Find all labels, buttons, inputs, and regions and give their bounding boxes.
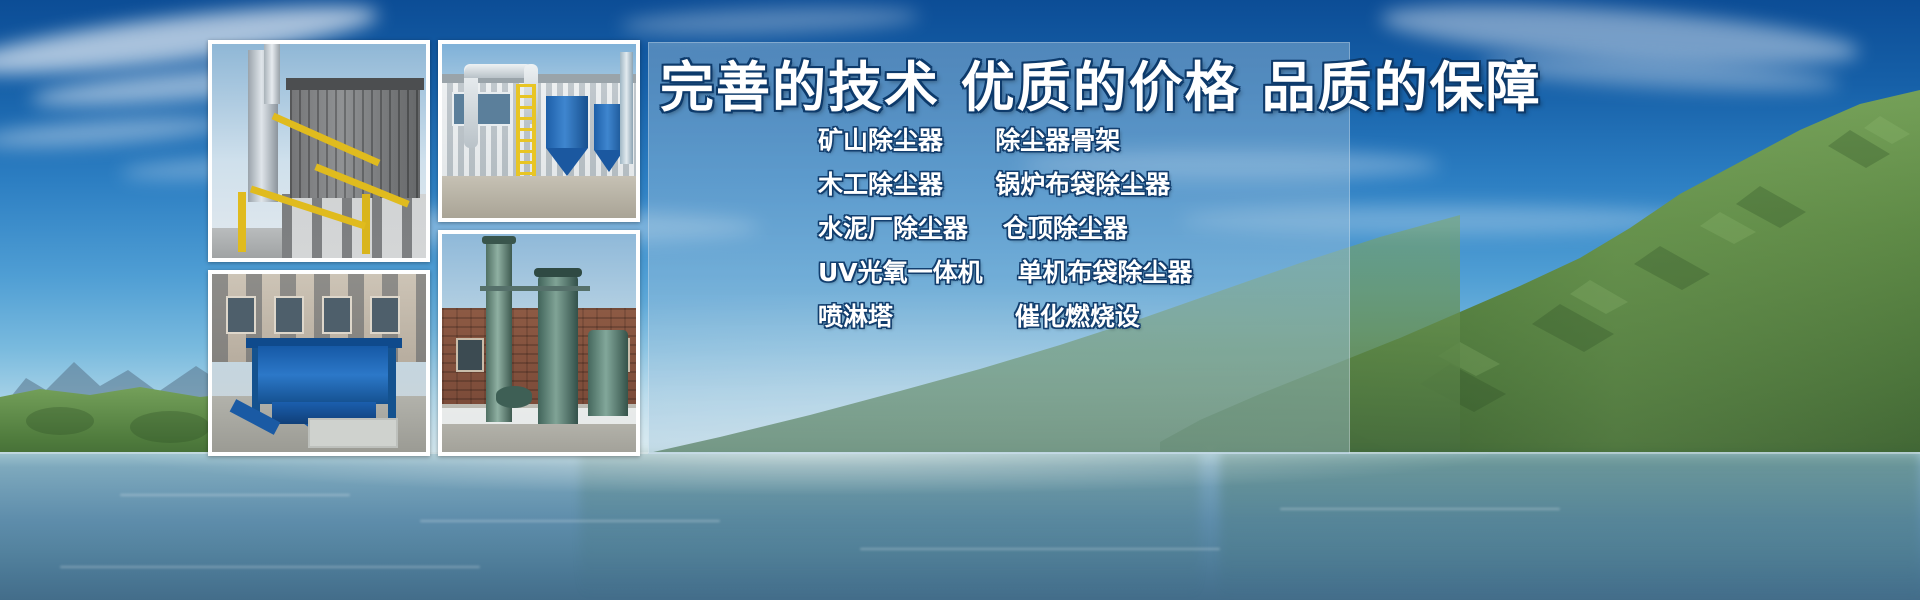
photo-mine-dust-collector[interactable]: [208, 40, 430, 262]
product-line: 喷淋塔 催化燃烧设: [818, 304, 1338, 329]
water-ripple: [860, 548, 1220, 550]
photo-collage: [208, 40, 640, 456]
page-title: 完善的技术 优质的价格 品质的保障: [660, 58, 1350, 117]
product-list: 矿山除尘器 除尘器骨架 木工除尘器 锅炉布袋除尘器 水泥厂除尘器 仓顶除尘器 U…: [818, 128, 1338, 348]
photo-workshop-hopper-collector[interactable]: [438, 40, 640, 222]
water-ripple: [1280, 508, 1560, 510]
product-line: 木工除尘器 锅炉布袋除尘器: [818, 172, 1338, 197]
product-line: UV光氧一体机 单机布袋除尘器: [818, 260, 1338, 285]
product-line: 矿山除尘器 除尘器骨架: [818, 128, 1338, 153]
water-ripple: [120, 494, 350, 496]
promo-banner: 完善的技术 优质的价格 品质的保障 矿山除尘器 除尘器骨架 木工除尘器 锅炉布袋…: [0, 0, 1920, 600]
photo-green-towers[interactable]: [438, 230, 640, 456]
photo-blue-cement-collector[interactable]: [208, 270, 430, 456]
water-highlight: [0, 452, 1920, 512]
water-ripple: [60, 566, 480, 568]
product-line: 水泥厂除尘器 仓顶除尘器: [818, 216, 1338, 241]
water-ripple: [420, 520, 720, 522]
